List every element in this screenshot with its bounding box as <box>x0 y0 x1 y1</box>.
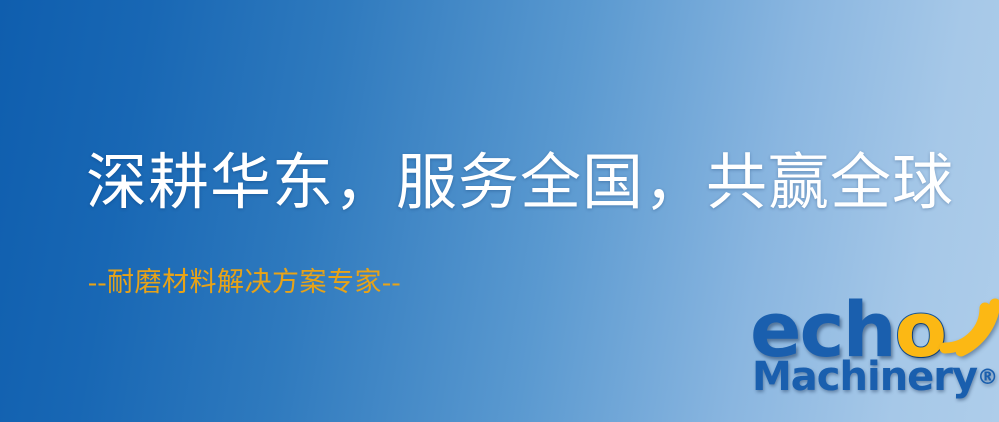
logo-company-name-text: Machinery <box>752 354 977 400</box>
banner-headline: 深耕华东，服务全国，共赢全球 <box>86 148 954 220</box>
promotional-banner: 深耕华东，服务全国，共赢全球 --耐磨材料解决方案专家-- echo Machi… <box>0 0 999 422</box>
signal-waves-icon <box>931 290 999 356</box>
company-logo[interactable]: echo Machinery® <box>748 292 999 422</box>
banner-subtitle: --耐磨材料解决方案专家-- <box>88 266 401 298</box>
logo-company-name: Machinery® <box>752 357 998 397</box>
registered-trademark-icon: ® <box>977 365 998 389</box>
